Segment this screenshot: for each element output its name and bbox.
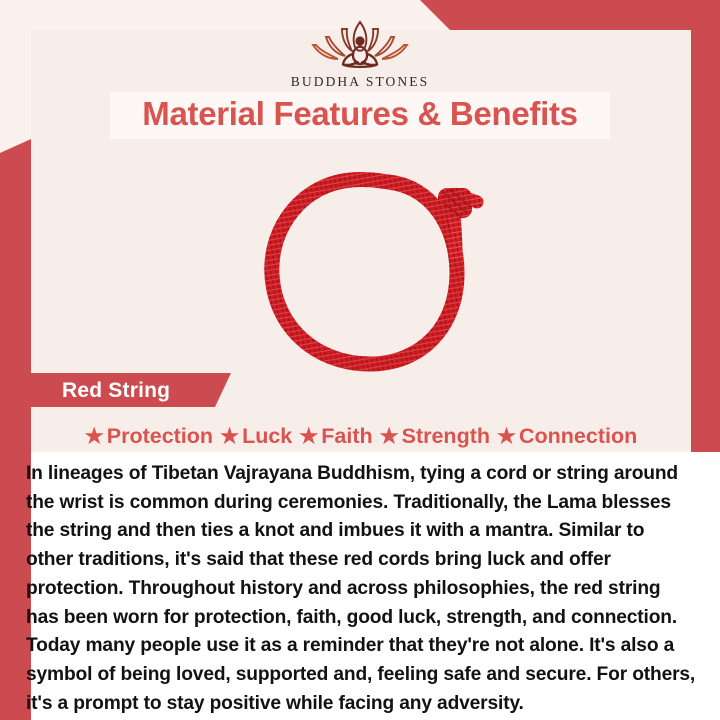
product-image — [225, 155, 505, 385]
benefit-label: Connection — [519, 424, 637, 449]
red-braided-cord-bracelet-image — [225, 155, 505, 385]
brand-logo: BUDDHA STONES — [0, 16, 720, 90]
page-title: Material Features & Benefits — [0, 95, 720, 133]
benefit-item-protection: Protection — [83, 424, 215, 449]
benefit-keyword-row: Protection Luck Faith Strength Connectio… — [31, 420, 691, 452]
star-icon — [380, 427, 399, 446]
star-icon — [220, 427, 239, 446]
lotus-meditating-figure-icon — [295, 16, 425, 72]
benefit-item-strength: Strength — [378, 424, 492, 449]
bracelet-knot — [438, 188, 472, 218]
benefit-label: Faith — [321, 424, 372, 449]
star-icon — [497, 427, 516, 446]
infographic-page: BUDDHA STONES Material Features & Benefi… — [0, 0, 720, 720]
product-description: In lineages of Tibetan Vajrayana Buddhis… — [26, 460, 696, 718]
benefit-item-connection: Connection — [495, 424, 639, 449]
benefit-label: Strength — [402, 424, 490, 449]
benefit-label: Luck — [242, 424, 292, 449]
benefit-item-luck: Luck — [218, 424, 294, 449]
benefit-item-faith: Faith — [297, 424, 374, 449]
product-label-text: Red String — [62, 379, 170, 403]
star-icon — [85, 427, 104, 446]
benefit-label: Protection — [107, 424, 213, 449]
brand-wordmark: BUDDHA STONES — [0, 74, 720, 90]
star-icon — [299, 427, 318, 446]
